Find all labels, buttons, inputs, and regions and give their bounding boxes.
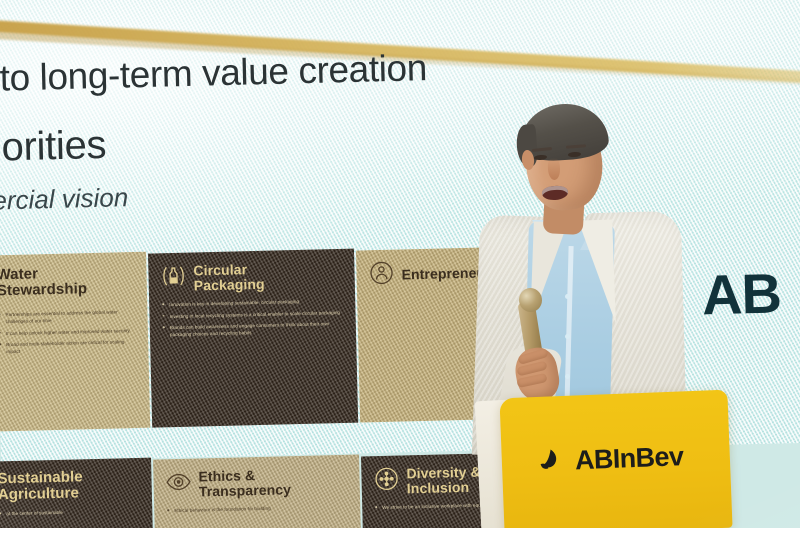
card-bullet: Innovation is key in developing sustaina… — [161, 297, 343, 309]
card-bullet: Partnerships are essential to address th… — [0, 308, 136, 326]
card-bullet: Broad and multi-stakeholder action are c… — [0, 338, 136, 356]
card-circular-packaging: Circular Packaging Innovation is key in … — [148, 249, 358, 428]
jacket-lapel-right — [578, 219, 616, 324]
card-bullet: Brands can build awareness and engage co… — [162, 320, 344, 339]
card-ethics-transparency: Ethics & Transparency Ethical behaviour … — [153, 455, 361, 529]
card-bullet-list: at the center of sustainable — [0, 507, 140, 518]
podium-logo-text: ABInBev — [574, 441, 683, 476]
slide-headline-line-2: riorities — [0, 123, 107, 171]
shirt-button — [565, 294, 570, 299]
card-bullet-list: Partnerships are essential to address th… — [0, 308, 136, 356]
podium-abinbev-logo: ABInBev — [535, 441, 683, 478]
card-water-stewardship: Water Stewardship Partnerships are essen… — [0, 252, 150, 432]
card-bullet: Ethical behaviour is the foundation for … — [166, 503, 348, 515]
speaking-podium: ABInBev — [466, 392, 734, 529]
card-title-line-2: Packaging — [194, 275, 265, 293]
card-bullet-list: Innovation is key in developing sustaina… — [161, 297, 344, 339]
wall-logo-text: AB — [701, 260, 781, 327]
shirt-button — [565, 374, 570, 379]
card-bullet: Investing in local recycling systems is … — [161, 309, 343, 321]
shirt-button — [565, 334, 570, 339]
card-title-line-2: Stewardship — [0, 280, 87, 299]
card-title-line-2: Inclusion — [407, 478, 470, 496]
event-photograph: l to long-term value creation riorities … — [0, 0, 800, 529]
slide-headline-line-1: l to long-term value creation — [0, 47, 427, 100]
slide-subheadline: nercial vision — [0, 182, 129, 217]
photo-bottom-margin — [0, 528, 800, 551]
network-nodes-icon — [373, 466, 400, 498]
card-bullet-list: Ethical behaviour is the foundation for … — [166, 503, 348, 515]
card-title-line-2: Agriculture — [0, 484, 79, 503]
card-bullet: It can help unlock higher water and impr… — [0, 326, 136, 336]
bottle-recycle-icon — [160, 263, 187, 295]
lightbulb-person-icon — [368, 260, 395, 292]
card-title-line-2: Transparency — [199, 481, 292, 499]
abinbev-leaf-icon — [535, 446, 566, 477]
eye-icon — [165, 469, 192, 501]
card-bullet: at the center of sustainable — [0, 507, 140, 518]
card-sustainable-agriculture: Sustainable Agriculture at the center of… — [0, 458, 153, 529]
